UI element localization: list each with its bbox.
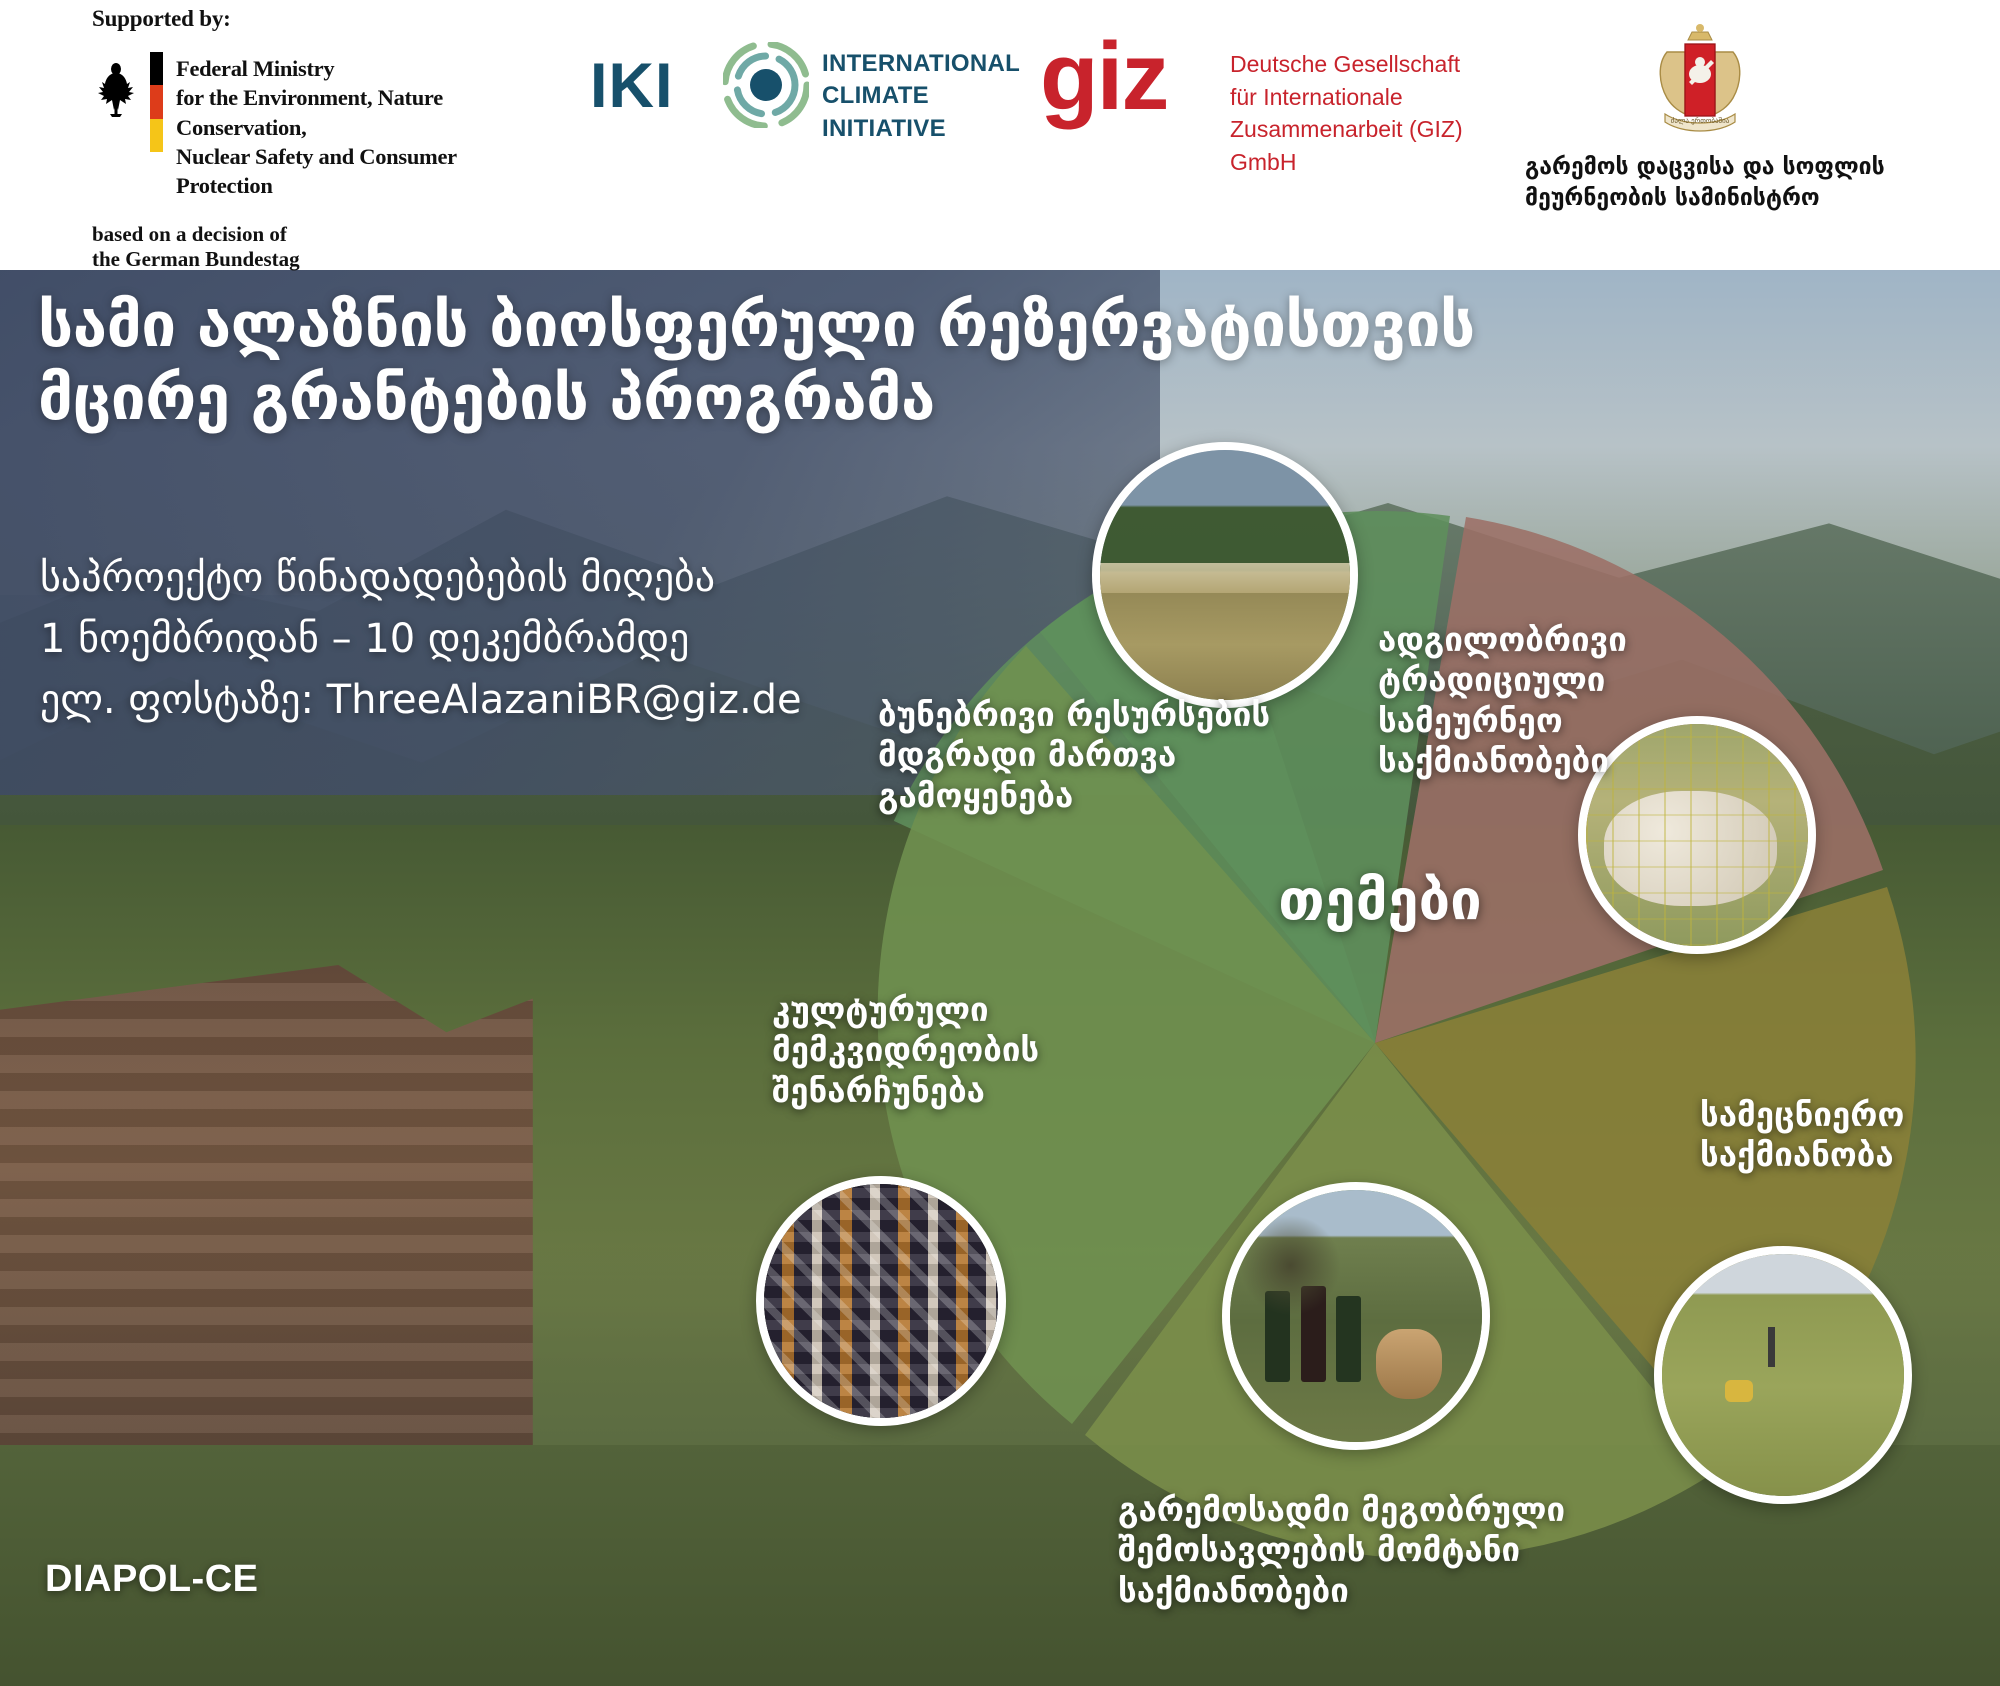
georgia-coat-of-arms-icon: ძალა ერთობაშია	[1645, 22, 1755, 142]
page-title: სამი ალაზნის ბიოსფერული რეზერვატისთვის მ…	[38, 288, 1558, 434]
call-for-proposals-info: საპროექტო წინადადებების მიღება 1 ნოემბრი…	[40, 548, 802, 730]
field-survey-photo	[1654, 1246, 1912, 1504]
wheel-label-local-traditional: ადგილობრივი ტრადიციული სამეურნეო საქმიან…	[1378, 620, 1798, 781]
iki-wordmark: IKI	[590, 50, 674, 122]
federal-ministry-logo: Federal Ministry for the Environment, Na…	[92, 48, 522, 153]
federal-ministry-name: Federal Ministry for the Environment, Na…	[176, 54, 526, 200]
page-title-line-1: სამი ალაზნის ბიოსფერული რეზერვატისთვის	[38, 288, 1475, 361]
iki-logo: IKI INTERNATIONAL CLIMATE INITIATIVE	[590, 42, 1010, 132]
giz-name: Deutsche Gesellschaft für Internationale…	[1230, 48, 1490, 179]
project-brandmark: DIAPOL-CE	[45, 1558, 259, 1601]
page-title-line-2: მცირე გრანტების პროგრამა	[38, 361, 1558, 434]
village-valley-photo	[1092, 442, 1358, 708]
supported-by-label: Supported by:	[92, 6, 231, 32]
submission-dates: 1 ნოემბრიდან – 10 დეკემბრამდე	[40, 609, 802, 670]
german-flag-bar	[150, 52, 163, 152]
carpet-textile-photo	[756, 1176, 1006, 1426]
wheel-label-natural-resources: ბუნებრივი რესურსების მდგრადი მართვა გამო…	[878, 695, 1318, 816]
submission-email[interactable]: ელ. ფოსტაზე: ThreeAlazaniBR@giz.de	[40, 670, 802, 731]
georgia-ministry-logo: ძალა ერთობაშია გარემოს დაცვისა და სოფლის…	[1525, 22, 1955, 222]
wheel-label-eco-friendly-income: გარემოსადმი მეგობრული შემოსავლების მომტა…	[1118, 1490, 1618, 1611]
giz-logo: giz Deutsche Gesellschaft für Internatio…	[1040, 36, 1490, 136]
german-eagle-icon	[92, 54, 140, 126]
wheel-label-medicinal-activity: სამეცნიერო საქმიანობა	[1700, 1095, 1960, 1176]
giz-wordmark: giz	[1040, 22, 1167, 132]
svg-text:ძალა ერთობაშია: ძალა ერთობაშია	[1671, 116, 1730, 125]
submission-label: საპროექტო წინადადებების მიღება	[40, 548, 802, 609]
donor-logo-header: Supported by: Federal Ministry for the E…	[0, 0, 2000, 270]
bundestag-decision-note: based on a decision of the German Bundes…	[92, 222, 300, 272]
georgia-ministry-name: გარემოს დაცვისა და სოფლის მეურნეობის სამ…	[1525, 152, 1955, 214]
wine-produce-photo	[1222, 1182, 1490, 1450]
iki-name: INTERNATIONAL CLIMATE INITIATIVE	[822, 48, 1020, 145]
iki-circle-icon	[723, 42, 809, 128]
wheel-center-label: თემები	[1220, 868, 1540, 933]
wheel-label-cultural-heritage: კულტურული მემკვიდრეობის შენარჩუნება	[772, 990, 1102, 1111]
